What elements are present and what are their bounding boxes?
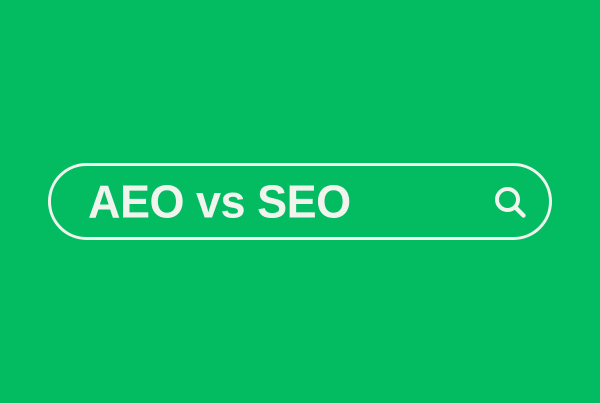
poster-canvas: AEO vs SEO [0, 0, 600, 403]
search-input[interactable]: AEO vs SEO [88, 178, 351, 225]
search-icon[interactable] [493, 185, 527, 219]
search-bar[interactable]: AEO vs SEO [48, 163, 552, 240]
